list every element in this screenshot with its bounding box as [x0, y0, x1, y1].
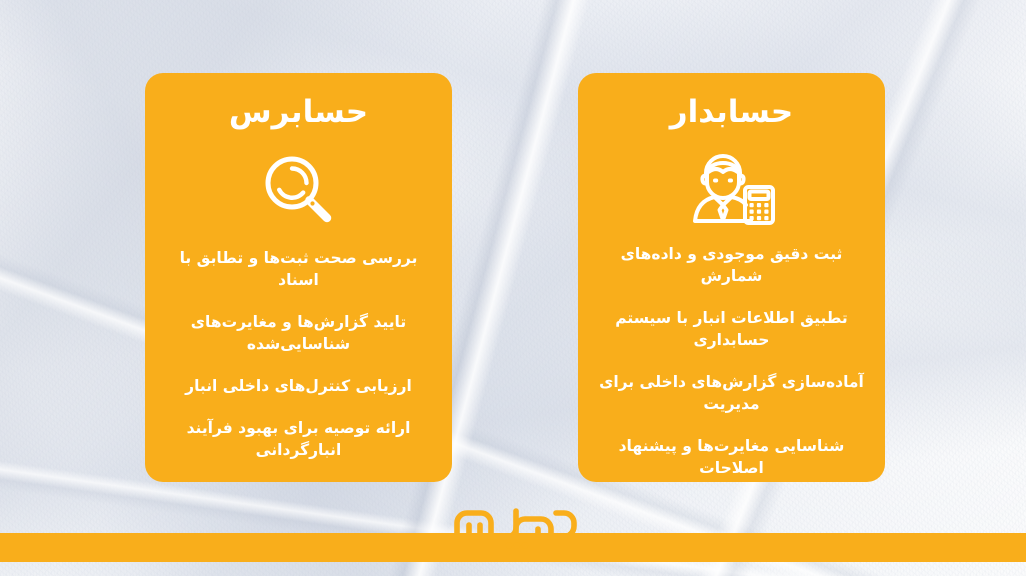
brand-wordmark-logo	[443, 498, 588, 554]
list-item: تایید گزارش‌ها و مغایرت‌های شناسایی‌شده	[159, 311, 438, 355]
card-accountant-list: ثبت دقیق موجودی و داده‌های شمارش تطبیق ا…	[592, 243, 871, 479]
list-item: ارزیابی کنترل‌های داخلی انبار	[159, 375, 438, 397]
list-item: بررسی صحت ثبت‌ها و تطابق با اسناد	[159, 247, 438, 291]
card-auditor: حسابرس بررسی صحت ثبت‌ها و تطابق با اسناد…	[145, 73, 452, 482]
infographic-canvas: حسابرس بررسی صحت ثبت‌ها و تطابق با اسناد…	[0, 0, 1026, 576]
list-item: ارائه توصیه برای بهبود فرآیند انبارگردان…	[159, 417, 438, 461]
card-auditor-title: حسابرس	[159, 95, 438, 131]
card-auditor-list: بررسی صحت ثبت‌ها و تطابق با اسناد تایید …	[159, 247, 438, 461]
card-accountant-title: حسابدار	[592, 95, 871, 131]
list-item: ثبت دقیق موجودی و داده‌های شمارش	[592, 243, 871, 287]
accountant-with-calculator-icon	[686, 147, 778, 229]
list-item: شناسایی مغایرت‌ها و پیشنهاد اصلاحات	[592, 435, 871, 479]
magnifier-search-icon	[259, 147, 339, 233]
list-item: تطبیق اطلاعات انبار با سیستم حسابداری	[592, 307, 871, 351]
card-accountant: حسابدار	[578, 73, 885, 482]
list-item: آماده‌سازی گزارش‌های داخلی برای مدیریت	[592, 371, 871, 415]
